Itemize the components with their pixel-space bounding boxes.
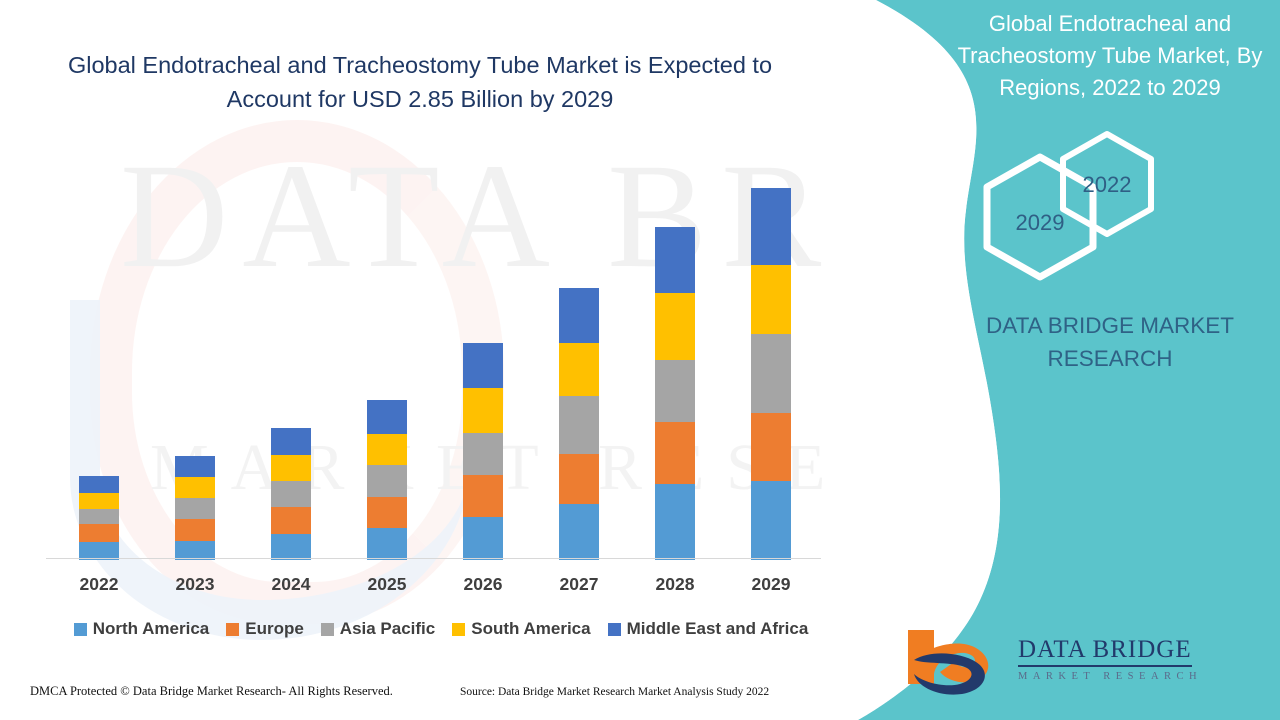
legend-item-asia-pacific[interactable]: Asia Pacific (321, 619, 435, 639)
side-panel: Global Endotracheal and Tracheostomy Tub… (840, 0, 1280, 720)
bar-segment (751, 334, 791, 413)
bar-2029 (751, 188, 791, 560)
bar-segment (175, 519, 215, 541)
legend-label: South America (471, 619, 590, 639)
legend-swatch-icon (608, 623, 621, 636)
logo-secondary-text: MARKET RESEARCH (1018, 671, 1202, 682)
bar-segment (463, 475, 503, 517)
bar-segment (367, 465, 407, 497)
x-tick-2023: 2023 (155, 574, 235, 595)
bar-segment (463, 343, 503, 388)
x-tick-2028: 2028 (635, 574, 715, 595)
legend-item-south-america[interactable]: South America (452, 619, 590, 639)
bar-segment (463, 517, 503, 560)
bar-segment (559, 343, 599, 396)
bar-2027 (559, 288, 599, 560)
x-tick-2024: 2024 (251, 574, 331, 595)
x-axis-tick-labels: 20222023202420252026202720282029 (46, 570, 836, 604)
bar-segment (655, 227, 695, 292)
bar-segment (655, 360, 695, 422)
bar-segment (559, 454, 599, 505)
bar-segment (79, 524, 119, 542)
hexagon-2029 (980, 152, 1100, 282)
bar-segment (751, 481, 791, 560)
x-tick-2026: 2026 (443, 574, 523, 595)
bar-segment (367, 528, 407, 560)
bar-segment (175, 456, 215, 477)
legend-swatch-icon (226, 623, 239, 636)
x-tick-2025: 2025 (347, 574, 427, 595)
bar-segment (367, 400, 407, 434)
legend-label: North America (93, 619, 210, 639)
legend-item-north-america[interactable]: North America (74, 619, 210, 639)
legend-swatch-icon (321, 623, 334, 636)
bar-2024 (271, 428, 311, 560)
bar-segment (175, 498, 215, 519)
x-tick-2027: 2027 (539, 574, 619, 595)
legend-swatch-icon (74, 623, 87, 636)
data-bridge-logo: DATA BRIDGE MARKET RESEARCH (900, 622, 1250, 704)
bar-segment (367, 434, 407, 466)
legend-label: Asia Pacific (340, 619, 435, 639)
bar-segment (655, 422, 695, 484)
hexagon-badges: 2029 2022 (980, 130, 1280, 280)
bar-segment (463, 433, 503, 475)
bar-segment (559, 504, 599, 560)
bar-2028 (655, 227, 695, 560)
bar-segment (463, 388, 503, 432)
bar-segment (271, 428, 311, 454)
copyright-notice: DMCA Protected © Data Bridge Market Rese… (30, 684, 393, 699)
bar-segment (751, 413, 791, 481)
legend-item-middle-east-and-africa[interactable]: Middle East and Africa (608, 619, 809, 639)
chart-title: Global Endotracheal and Tracheostomy Tub… (60, 48, 780, 116)
bar-segment (559, 288, 599, 343)
legend-item-europe[interactable]: Europe (226, 619, 304, 639)
bar-segment (271, 507, 311, 533)
legend-label: Europe (245, 619, 304, 639)
chart-legend: North AmericaEuropeAsia PacificSouth Ame… (46, 615, 836, 643)
bar-segment (271, 481, 311, 507)
source-notice: Source: Data Bridge Market Research Mark… (460, 686, 769, 698)
bar-segment (175, 477, 215, 498)
legend-swatch-icon (452, 623, 465, 636)
logo-primary-text: DATA BRIDGE (1018, 636, 1192, 667)
x-tick-2022: 2022 (59, 574, 139, 595)
side-panel-shape (840, 0, 1280, 720)
bar-segment (271, 455, 311, 481)
bar-segment (79, 476, 119, 493)
bar-segment (751, 265, 791, 333)
bar-2023 (175, 456, 215, 560)
bar-segment (79, 509, 119, 524)
hexagon-2029-label: 2029 (980, 210, 1100, 236)
hexagon-2022-label: 2022 (1058, 172, 1156, 198)
bar-segment (271, 534, 311, 560)
bar-segment (655, 484, 695, 560)
chart-panel: Global Endotracheal and Tracheostomy Tub… (0, 0, 860, 720)
legend-label: Middle East and Africa (627, 619, 809, 639)
x-tick-2029: 2029 (731, 574, 811, 595)
bar-2025 (367, 400, 407, 560)
bar-segment (367, 497, 407, 529)
bar-segment (655, 293, 695, 360)
bar-segment (559, 396, 599, 454)
brand-name: DATA BRIDGE MARKET RESEARCH (950, 310, 1270, 375)
bar-2026 (463, 343, 503, 560)
bar-segment (751, 188, 791, 265)
side-panel-title: Global Endotracheal and Tracheostomy Tub… (950, 8, 1270, 104)
stacked-bar-plot (46, 160, 836, 560)
bar-segment (79, 493, 119, 510)
x-axis-line (46, 558, 821, 559)
bar-2022 (79, 476, 119, 560)
hexagon-2022 (1058, 130, 1156, 238)
logo-mark-icon (900, 622, 1010, 702)
